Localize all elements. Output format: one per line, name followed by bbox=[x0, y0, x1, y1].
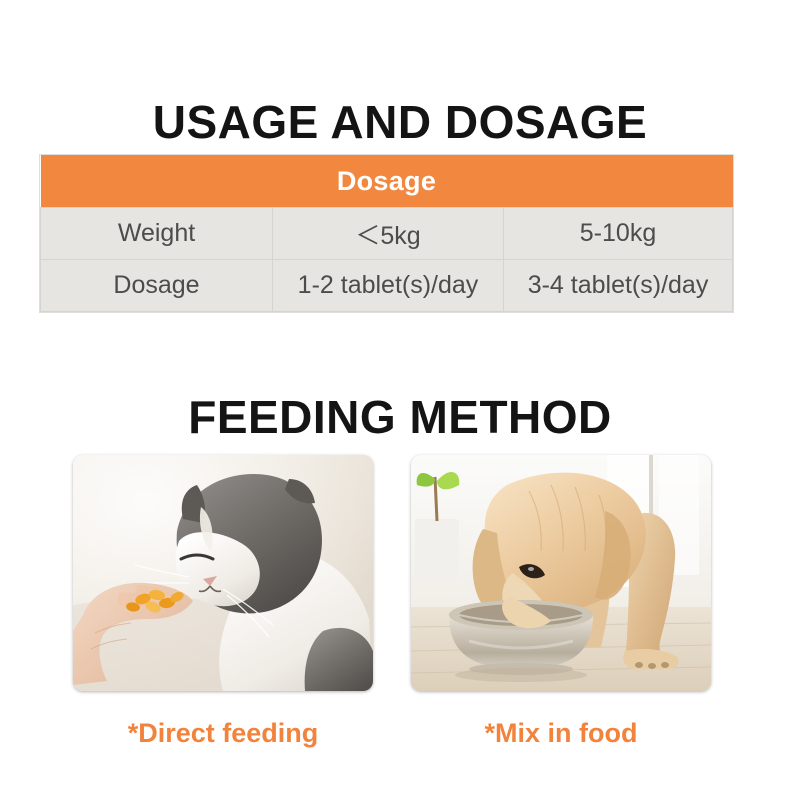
photo-mix-in-food-image bbox=[411, 455, 711, 691]
dosage-table-header-row: Dosage bbox=[41, 155, 733, 208]
photo-direct-feeding bbox=[73, 455, 373, 691]
cat-eating-treat-illustration bbox=[73, 455, 373, 691]
row-weight-label: Weight bbox=[41, 208, 273, 260]
row-dosage-value-b: 3-4 tablet(s)/day bbox=[504, 260, 733, 312]
table-row: Dosage 1-2 tablet(s)/day 3-4 tablet(s)/d… bbox=[41, 260, 733, 312]
caption-mix-in-food: *Mix in food bbox=[411, 718, 711, 749]
caption-direct-feeding: *Direct feeding bbox=[73, 718, 373, 749]
row-dosage-value-a: 1-2 tablet(s)/day bbox=[273, 260, 504, 312]
photo-direct-feeding-image bbox=[73, 455, 373, 691]
photo-mix-in-food bbox=[411, 455, 711, 691]
page-title-usage-and-dosage: USAGE AND DOSAGE bbox=[0, 94, 800, 150]
dog-eating-from-bowl-illustration bbox=[411, 455, 711, 691]
dosage-table: Dosage Weight ＜5kg 5-10kg Dosage 1-2 tab… bbox=[40, 155, 733, 312]
page-title-feeding-method: FEEDING METHOD bbox=[0, 389, 800, 445]
row-weight-value-b: 5-10kg bbox=[504, 208, 733, 260]
feeding-method-photo-row bbox=[0, 455, 800, 691]
row-weight-value-a: ＜5kg bbox=[273, 208, 504, 260]
table-row: Weight ＜5kg 5-10kg bbox=[41, 208, 733, 260]
dosage-table-title: Dosage bbox=[41, 155, 733, 208]
row-dosage-label: Dosage bbox=[41, 260, 273, 312]
